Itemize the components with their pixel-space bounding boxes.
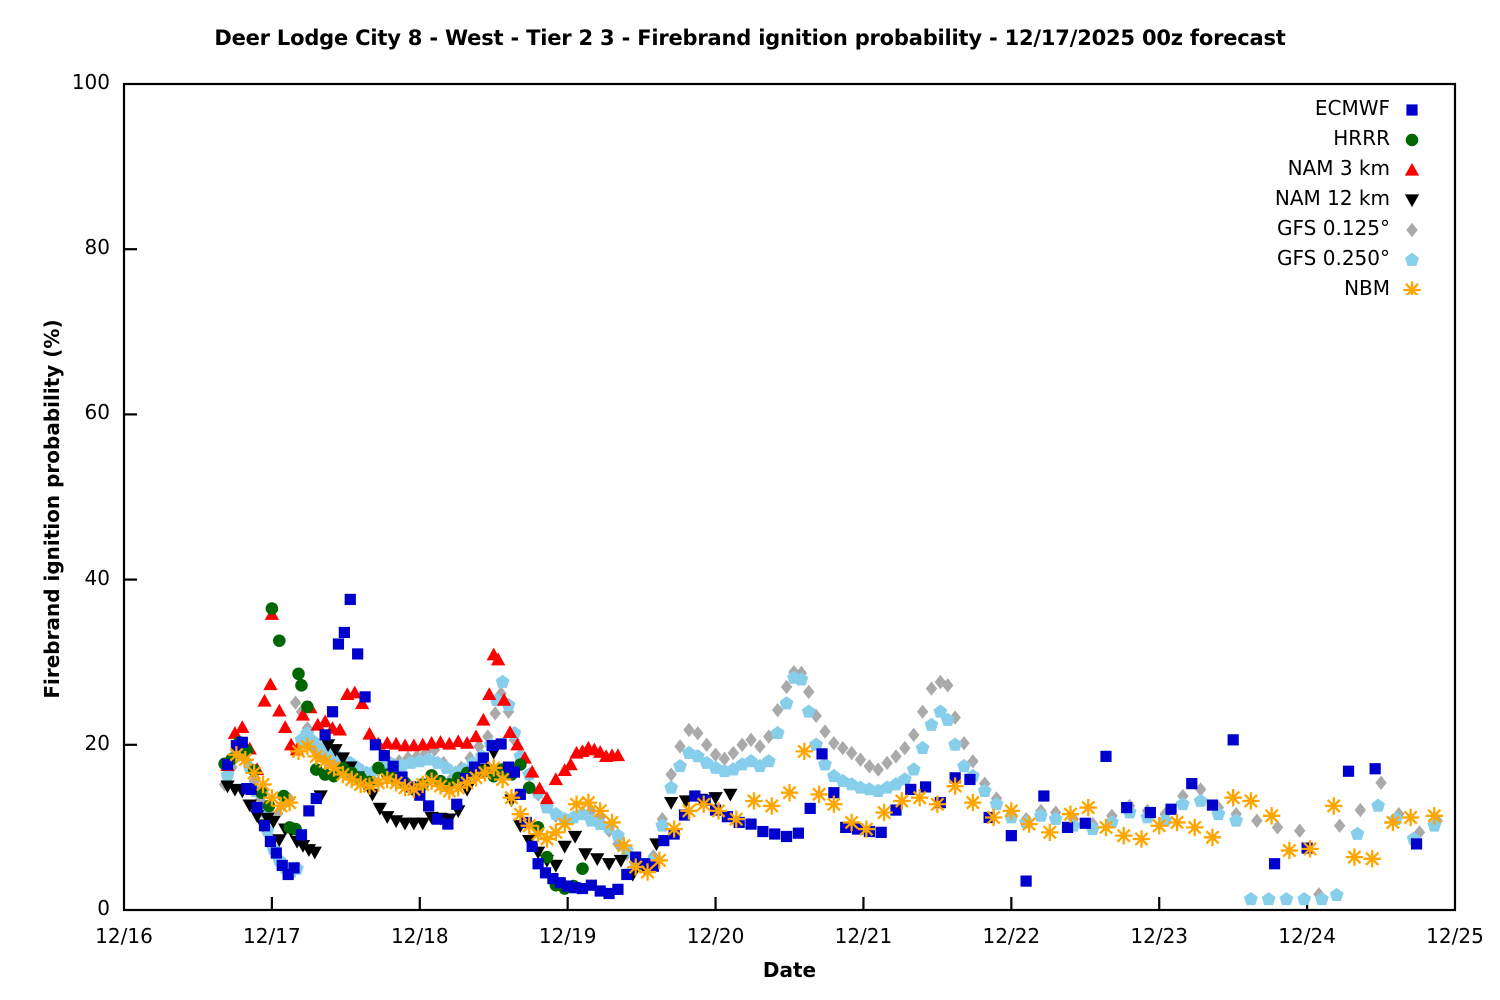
data-point-square — [1228, 734, 1239, 745]
data-point-square — [1021, 875, 1032, 886]
data-point-square — [496, 738, 507, 749]
data-point-asterisk — [503, 789, 520, 806]
data-point-square — [1411, 838, 1422, 849]
data-point-triangle-up — [263, 677, 277, 690]
data-point-triangle-down — [602, 858, 616, 871]
data-point-asterisk — [665, 820, 682, 837]
data-point-square — [1062, 822, 1073, 833]
data-point-asterisk — [1151, 817, 1168, 834]
data-point-asterisk — [1224, 789, 1241, 806]
data-point-diamond — [1375, 776, 1386, 790]
data-point-triangle-down — [590, 853, 604, 866]
data-point-asterisk — [1364, 850, 1381, 867]
data-point-asterisk — [858, 820, 875, 837]
data-point-pentagon — [673, 759, 687, 772]
data-point-asterisk — [1097, 819, 1114, 836]
x-tick-label: 12/20 — [656, 924, 776, 948]
data-point-asterisk — [893, 792, 910, 809]
data-point-asterisk — [1384, 814, 1401, 831]
data-point-triangle-down — [416, 818, 430, 831]
data-point-square — [964, 774, 975, 785]
data-point-pentagon — [1371, 799, 1385, 812]
data-point-square — [265, 836, 276, 847]
data-point-square — [1038, 790, 1049, 801]
data-point-square — [370, 739, 381, 750]
data-point-asterisk — [1186, 819, 1203, 836]
data-point-diamond — [701, 738, 712, 752]
data-point-square — [1145, 807, 1156, 818]
x-tick-label: 12/24 — [1247, 924, 1367, 948]
data-point-square — [345, 594, 356, 605]
data-point-asterisk — [796, 743, 813, 760]
data-point-asterisk — [781, 784, 798, 801]
data-point-circle — [292, 667, 305, 680]
data-point-square — [423, 800, 434, 811]
data-point-diamond — [819, 724, 830, 738]
data-point-pentagon — [1297, 892, 1311, 905]
data-point-asterisk — [1346, 848, 1363, 865]
data-point-square — [1186, 778, 1197, 789]
data-point-asterisk — [254, 776, 271, 793]
data-point-asterisk — [825, 796, 842, 813]
data-point-pentagon — [664, 780, 678, 793]
data-point-square — [769, 828, 780, 839]
data-point-square — [451, 799, 462, 810]
data-point-pentagon — [771, 726, 785, 739]
y-tick-label: 40 — [10, 566, 110, 590]
data-point-square — [327, 706, 338, 717]
data-point-asterisk — [1020, 815, 1037, 832]
data-point-square — [612, 884, 623, 895]
data-point-asterisk — [1168, 814, 1185, 831]
data-point-asterisk — [1281, 842, 1298, 859]
x-tick-label: 12/17 — [212, 924, 332, 948]
data-point-triangle-up — [482, 687, 496, 700]
data-point-square — [442, 818, 453, 829]
data-point-square — [352, 648, 363, 659]
data-point-diamond — [754, 739, 765, 753]
data-point-triangle-up — [469, 729, 483, 742]
data-point-asterisk — [1301, 840, 1318, 857]
data-point-triangle-up — [1405, 163, 1419, 176]
y-tick-label: 80 — [10, 235, 110, 259]
x-tick-label: 12/21 — [803, 924, 923, 948]
data-point-square — [339, 627, 350, 638]
data-point-asterisk — [1080, 799, 1097, 816]
legend-item-gfs-0-250[interactable]: GFS 0.250° — [1175, 246, 1390, 270]
legend-item-gfs-0-125[interactable]: GFS 0.125° — [1175, 216, 1390, 240]
data-point-square — [920, 781, 931, 792]
legend-item-nam-3-km[interactable]: NAM 3 km — [1175, 156, 1390, 180]
data-point-triangle-up — [563, 757, 577, 770]
data-point-asterisk — [237, 751, 254, 768]
data-point-circle — [295, 679, 308, 692]
data-point-asterisk — [1204, 829, 1221, 846]
data-point-pentagon — [1229, 814, 1243, 827]
data-point-square — [237, 737, 248, 748]
data-point-asterisk — [512, 806, 529, 823]
y-tick-label: 0 — [10, 896, 110, 920]
data-point-circle — [576, 862, 589, 875]
data-point-square — [1406, 104, 1417, 115]
data-point-pentagon — [762, 754, 776, 767]
data-point-square — [509, 766, 520, 777]
data-point-asterisk — [929, 796, 946, 813]
data-point-triangle-up — [257, 694, 271, 707]
data-point-square — [816, 748, 827, 759]
data-point-circle — [273, 634, 286, 647]
data-point-asterisk — [1426, 807, 1443, 824]
data-point-asterisk — [615, 837, 632, 854]
data-point-diamond — [1355, 803, 1366, 817]
data-point-square — [781, 831, 792, 842]
data-point-pentagon — [1049, 812, 1063, 825]
data-point-diamond — [803, 685, 814, 699]
data-point-asterisk — [810, 786, 827, 803]
data-point-pentagon — [1244, 892, 1258, 905]
data-point-pentagon — [1405, 253, 1419, 266]
data-point-pentagon — [978, 784, 992, 797]
data-point-square — [1207, 799, 1218, 810]
data-point-pentagon — [1176, 797, 1190, 810]
x-tick-label: 12/22 — [951, 924, 1071, 948]
data-point-pentagon — [1262, 892, 1276, 905]
data-point-square — [252, 802, 263, 813]
data-point-square — [296, 829, 307, 840]
data-point-asterisk — [946, 777, 963, 794]
data-point-asterisk — [245, 764, 262, 781]
data-point-diamond — [872, 762, 883, 776]
data-point-square — [527, 841, 538, 852]
data-point-asterisk — [494, 771, 511, 788]
chart-legend: ECMWFHRRRNAM 3 kmNAM 12 kmGFS 0.125°GFS … — [1165, 95, 1455, 295]
x-tick-label: 12/18 — [360, 924, 480, 948]
data-point-asterisk — [728, 810, 745, 827]
data-point-pentagon — [1279, 892, 1293, 905]
data-point-diamond — [683, 723, 694, 737]
data-point-triangle-down — [558, 841, 572, 854]
data-point-square — [1006, 830, 1017, 841]
data-point-square — [1080, 818, 1091, 829]
data-point-square — [311, 793, 322, 804]
x-tick-label: 12/19 — [508, 924, 628, 948]
data-point-diamond — [489, 706, 500, 720]
data-point-square — [333, 638, 344, 649]
data-point-pentagon — [916, 741, 930, 754]
legend-item-hrrr[interactable]: HRRR — [1175, 126, 1390, 150]
data-point-diamond — [1334, 819, 1345, 833]
data-point-triangle-up — [362, 727, 376, 740]
data-point-square — [1269, 858, 1280, 869]
x-tick-label: 12/23 — [1099, 924, 1219, 948]
data-point-square — [478, 752, 489, 763]
data-point-asterisk — [985, 809, 1002, 826]
legend-item-nam-12-km[interactable]: NAM 12 km — [1175, 186, 1390, 210]
data-point-pentagon — [1350, 827, 1364, 840]
data-point-diamond — [864, 759, 875, 773]
data-point-triangle-down — [614, 855, 628, 868]
data-point-asterisk — [556, 815, 573, 832]
y-tick-label: 20 — [10, 731, 110, 755]
data-point-asterisk — [964, 794, 981, 811]
data-point-triangle-up — [272, 704, 286, 717]
data-point-square — [745, 818, 756, 829]
data-point-square — [793, 828, 804, 839]
y-tick-label: 100 — [10, 70, 110, 94]
data-point-asterisk — [1403, 281, 1420, 295]
data-point-asterisk — [911, 789, 928, 806]
data-point-square — [288, 862, 299, 873]
data-point-square — [1370, 763, 1381, 774]
data-point-circle — [266, 602, 279, 615]
data-point-diamond — [855, 753, 866, 767]
data-point-asterisk — [1263, 807, 1280, 824]
legend-item-ecmwf[interactable]: ECMWF — [1175, 96, 1390, 120]
data-point-asterisk — [1115, 827, 1132, 844]
data-point-asterisk — [1133, 830, 1150, 847]
data-point-pentagon — [1194, 794, 1208, 807]
data-point-pentagon — [948, 738, 962, 751]
data-point-square — [259, 820, 270, 831]
data-point-diamond — [692, 726, 703, 740]
data-point-square — [320, 729, 331, 740]
y-tick-label: 60 — [10, 400, 110, 424]
data-point-diamond — [917, 705, 928, 719]
data-point-circle — [1406, 134, 1419, 147]
data-point-square — [359, 691, 370, 702]
data-point-pentagon — [1330, 888, 1344, 901]
data-point-triangle-down — [664, 797, 678, 810]
data-point-square — [1165, 804, 1176, 815]
data-point-square — [271, 847, 282, 858]
data-point-asterisk — [1242, 792, 1259, 809]
data-point-square — [379, 750, 390, 761]
data-point-triangle-down — [723, 789, 737, 802]
data-point-square — [432, 814, 443, 825]
data-point-diamond — [1251, 814, 1262, 828]
data-point-asterisk — [843, 814, 860, 831]
data-point-square — [1100, 751, 1111, 762]
data-point-diamond — [881, 756, 892, 770]
data-point-square — [303, 805, 314, 816]
data-point-square — [658, 835, 669, 846]
data-point-triangle-down — [1405, 194, 1419, 207]
data-point-asterisk — [651, 852, 668, 869]
data-point-triangle-down — [578, 848, 592, 861]
data-point-triangle-up — [476, 713, 490, 726]
data-point-asterisk — [745, 792, 762, 809]
data-point-asterisk — [710, 802, 727, 819]
data-point-diamond — [1294, 824, 1305, 838]
data-point-diamond — [899, 741, 910, 755]
x-tick-label: 12/16 — [64, 924, 184, 948]
data-point-pentagon — [907, 762, 921, 775]
data-point-square — [757, 826, 768, 837]
data-point-asterisk — [1062, 806, 1079, 823]
data-point-asterisk — [603, 814, 620, 831]
data-point-square — [388, 761, 399, 772]
data-point-asterisk — [680, 802, 697, 819]
data-point-circle — [301, 701, 314, 714]
data-point-asterisk — [1402, 809, 1419, 826]
data-point-diamond — [1272, 820, 1283, 834]
data-point-asterisk — [281, 794, 298, 811]
data-point-square — [876, 827, 887, 838]
data-point-asterisk — [1325, 797, 1342, 814]
data-point-asterisk — [485, 759, 502, 776]
data-point-asterisk — [1003, 802, 1020, 819]
data-point-triangle-up — [235, 720, 249, 733]
legend-item-nbm[interactable]: NBM — [1175, 276, 1390, 300]
data-point-pentagon — [780, 696, 794, 709]
data-point-triangle-up — [278, 720, 292, 733]
data-point-square — [805, 803, 816, 814]
data-point-pentagon — [496, 675, 510, 688]
data-point-asterisk — [580, 794, 597, 811]
data-point-pentagon — [802, 704, 816, 717]
data-point-asterisk — [875, 804, 892, 821]
data-point-diamond — [908, 728, 919, 742]
data-point-asterisk — [763, 797, 780, 814]
data-point-diamond — [890, 749, 901, 763]
data-point-square — [1121, 802, 1132, 813]
data-point-pentagon — [925, 718, 939, 731]
data-point-square — [1343, 766, 1354, 777]
data-point-diamond — [926, 681, 937, 695]
data-point-asterisk — [695, 796, 712, 813]
x-tick-label: 12/25 — [1395, 924, 1500, 948]
data-point-diamond — [1406, 223, 1417, 237]
chart-figure: Deer Lodge City 8 - West - Tier 2 3 - Fi… — [0, 0, 1500, 1000]
data-point-asterisk — [1041, 824, 1058, 841]
